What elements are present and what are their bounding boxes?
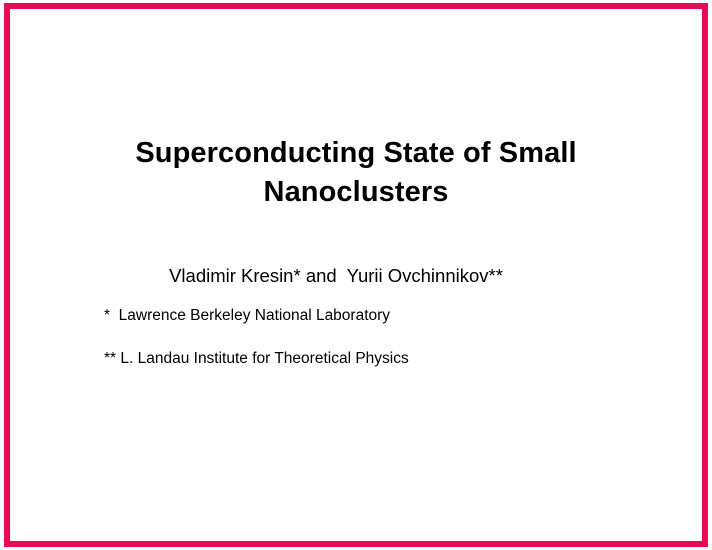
title-line-1: Superconducting State of Small [10, 134, 702, 173]
slide-content-area: Superconducting State of Small Nanoclust… [10, 9, 702, 541]
slide-title: Superconducting State of Small Nanoclust… [10, 134, 702, 212]
authors-line: Vladimir Kresin* and Yurii Ovchinnikov** [10, 263, 702, 289]
affiliation-line-1: * Lawrence Berkeley National Laboratory [104, 305, 390, 327]
slide: Superconducting State of Small Nanoclust… [0, 0, 712, 550]
slide-empty-body [10, 384, 702, 541]
affiliation-line-2: ** L. Landau Institute for Theoretical P… [104, 348, 409, 370]
title-line-2: Nanoclusters [10, 173, 702, 212]
